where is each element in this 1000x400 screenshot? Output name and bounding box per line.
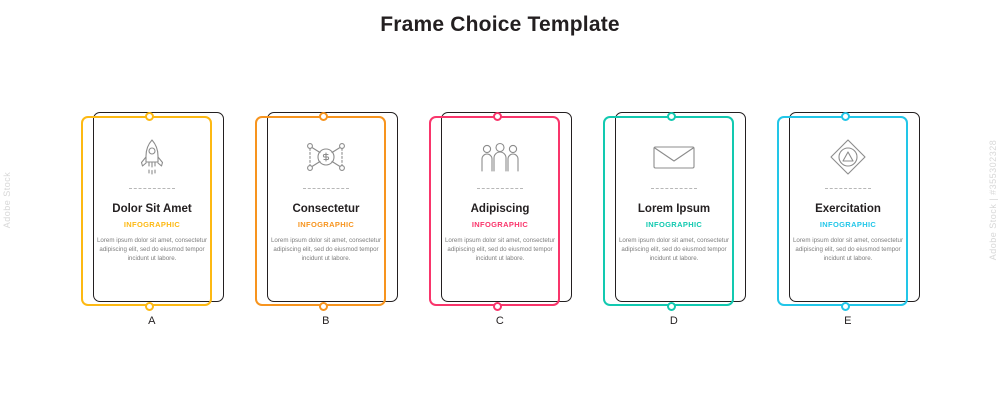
card-d-body: Lorem ipsum dolor sit amet, consectetur …: [618, 236, 731, 264]
card-c[interactable]: Adipiscing INFOGRAPHIC Lorem ipsum dolor…: [429, 112, 572, 310]
card-b-body: Lorem ipsum dolor sit amet, consectetur …: [270, 236, 383, 264]
card-d-frame: Lorem Ipsum INFOGRAPHIC Lorem ipsum dolo…: [603, 112, 746, 310]
card-e-content: Exercitation INFOGRAPHIC Lorem ipsum dol…: [783, 120, 914, 302]
card-e-frame: Exercitation INFOGRAPHIC Lorem ipsum dol…: [777, 112, 920, 310]
card-d-bottom-dot: [667, 302, 676, 311]
card-b-subtitle: INFOGRAPHIC: [298, 220, 354, 229]
card-b-title: Consectetur: [292, 203, 359, 216]
card-d[interactable]: Lorem Ipsum INFOGRAPHIC Lorem ipsum dolo…: [603, 112, 746, 310]
card-c-subtitle: INFOGRAPHIC: [472, 220, 528, 229]
card-a[interactable]: Dolor Sit Amet INFOGRAPHIC Lorem ipsum d…: [81, 112, 224, 310]
card-d-divider: [651, 188, 697, 190]
card-c-bottom-dot: [493, 302, 502, 311]
card-a-subtitle: INFOGRAPHIC: [124, 220, 180, 229]
card-b[interactable]: Consectetur INFOGRAPHIC Lorem ipsum dolo…: [255, 112, 398, 310]
page-title: Frame Choice Template: [0, 13, 1000, 37]
card-d-letter: D: [603, 315, 746, 327]
card-a-content: Dolor Sit Amet INFOGRAPHIC Lorem ipsum d…: [87, 120, 218, 302]
card-e-letter: E: [777, 315, 920, 327]
card-a-frame: Dolor Sit Amet INFOGRAPHIC Lorem ipsum d…: [81, 112, 224, 310]
card-a-bottom-dot: [145, 302, 154, 311]
card-b-letter: B: [255, 315, 398, 327]
money-network-icon: [303, 136, 349, 178]
card-c-title: Adipiscing: [471, 203, 530, 216]
card-d-title: Lorem Ipsum: [638, 203, 710, 216]
card-e-bottom-dot: [841, 302, 850, 311]
card-d-subtitle: INFOGRAPHIC: [646, 220, 702, 229]
card-e-divider: [825, 188, 871, 190]
card-e-body: Lorem ipsum dolor sit amet, consectetur …: [792, 236, 905, 264]
card-row: Dolor Sit Amet INFOGRAPHIC Lorem ipsum d…: [0, 112, 1000, 310]
card-e-subtitle: INFOGRAPHIC: [820, 220, 876, 229]
card-c-body: Lorem ipsum dolor sit amet, consectetur …: [444, 236, 557, 264]
card-b-frame: Consectetur INFOGRAPHIC Lorem ipsum dolo…: [255, 112, 398, 310]
card-a-divider: [129, 188, 175, 190]
card-c-letter: C: [429, 315, 572, 327]
card-a-title: Dolor Sit Amet: [112, 203, 191, 216]
card-c-content: Adipiscing INFOGRAPHIC Lorem ipsum dolor…: [435, 120, 566, 302]
card-e[interactable]: Exercitation INFOGRAPHIC Lorem ipsum dol…: [777, 112, 920, 310]
card-b-content: Consectetur INFOGRAPHIC Lorem ipsum dolo…: [261, 120, 392, 302]
card-e-title: Exercitation: [815, 203, 881, 216]
card-c-divider: [477, 188, 523, 190]
diamond-alert-icon: [825, 136, 871, 178]
card-c-frame: Adipiscing INFOGRAPHIC Lorem ipsum dolor…: [429, 112, 572, 310]
envelope-icon: [651, 136, 697, 178]
people-group-icon: [477, 136, 523, 178]
card-b-bottom-dot: [319, 302, 328, 311]
rocket-icon: [129, 136, 175, 178]
card-a-letter: A: [81, 315, 224, 327]
card-b-divider: [303, 188, 349, 190]
card-d-content: Lorem Ipsum INFOGRAPHIC Lorem ipsum dolo…: [609, 120, 740, 302]
card-a-body: Lorem ipsum dolor sit amet, consectetur …: [96, 236, 209, 264]
